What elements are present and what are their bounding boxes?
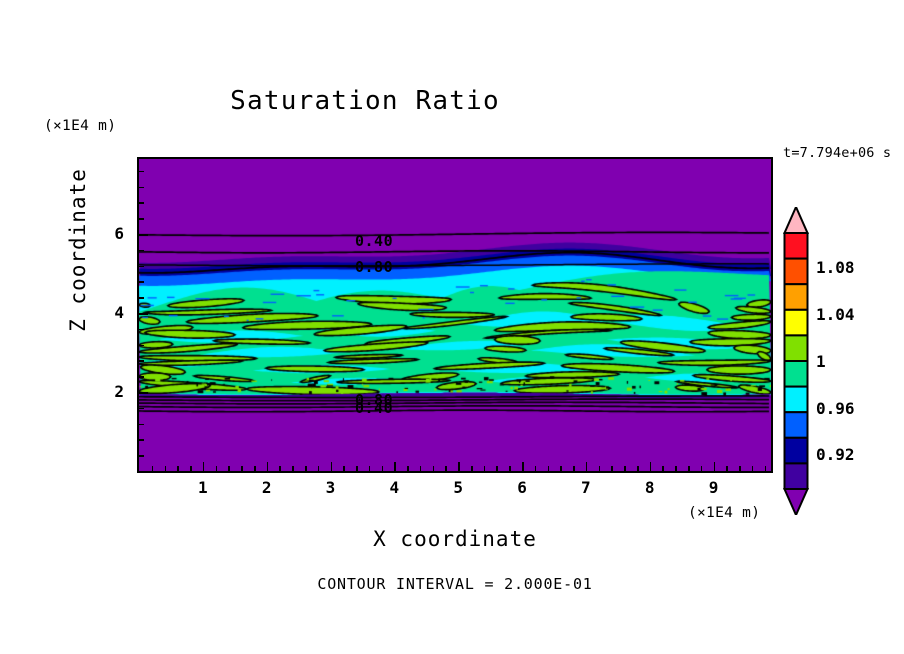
colorbar-segment[interactable] [785, 335, 808, 361]
x-minor-tick [420, 466, 422, 471]
x-minor-tick [433, 466, 435, 471]
x-major-tick [714, 462, 716, 471]
x-minor-tick [241, 466, 243, 471]
x-minor-tick [599, 466, 601, 471]
y-axis-title: Z coordinate [66, 150, 90, 350]
x-minor-tick [216, 466, 218, 471]
y-tick-label: 6 [100, 224, 124, 243]
x-minor-tick [548, 466, 550, 471]
x-minor-tick [560, 466, 562, 471]
y-axis-units-label: (×1E4 m) [44, 118, 116, 134]
y-minor-tick [139, 455, 144, 457]
x-tick-label: 8 [635, 478, 665, 497]
x-minor-tick [573, 466, 575, 471]
x-minor-tick [407, 466, 409, 471]
y-minor-tick [139, 187, 144, 189]
contour-value-label: 0.80 [355, 258, 393, 276]
x-minor-tick [165, 466, 167, 471]
timestamp-label: t=7.794e+06 s [783, 145, 891, 161]
x-minor-tick [496, 466, 498, 471]
x-major-tick [331, 462, 333, 471]
y-minor-tick [139, 329, 144, 331]
y-minor-tick [139, 408, 144, 410]
y-minor-tick [139, 297, 144, 299]
y-minor-tick [139, 250, 144, 252]
x-tick-label: 1 [188, 478, 218, 497]
y-tick-label: 2 [100, 382, 124, 401]
x-minor-tick [305, 466, 307, 471]
contour-interval-label: CONTOUR INTERVAL = 2.000E-01 [137, 575, 773, 593]
y-minor-tick [139, 266, 144, 268]
x-major-tick [267, 462, 269, 471]
x-minor-tick [369, 466, 371, 471]
y-tick-label: 4 [100, 303, 124, 322]
y-minor-tick [139, 345, 144, 347]
contour-plot-area[interactable] [137, 157, 773, 473]
x-major-tick [650, 462, 652, 471]
x-minor-tick [190, 466, 192, 471]
x-minor-tick [726, 466, 728, 471]
colorbar-segment[interactable] [785, 438, 808, 464]
colorbar-over-cap [785, 207, 808, 233]
colorbar[interactable] [783, 207, 809, 515]
contour-field-canvas [139, 159, 771, 471]
x-minor-tick [318, 466, 320, 471]
x-minor-tick [688, 466, 690, 471]
colorbar-segment[interactable] [785, 259, 808, 285]
x-tick-label: 5 [443, 478, 473, 497]
x-major-tick [458, 462, 460, 471]
y-minor-tick [139, 439, 144, 441]
x-minor-tick [484, 466, 486, 471]
y-minor-tick [139, 202, 144, 204]
colorbar-tick-label: 0.96 [816, 399, 855, 418]
x-tick-label: 2 [252, 478, 282, 497]
colorbar-segment[interactable] [785, 284, 808, 310]
contour-value-label: 0.40 [355, 232, 393, 250]
colorbar-tick-label: 1.04 [816, 305, 855, 324]
x-minor-tick [343, 466, 345, 471]
y-minor-tick [139, 281, 144, 283]
colorbar-tick-label: 0.92 [816, 445, 855, 464]
x-minor-tick [292, 466, 294, 471]
page-title: Saturation Ratio [0, 86, 730, 116]
x-minor-tick [445, 466, 447, 471]
contour-value-label: 0.40 [355, 399, 393, 417]
x-minor-tick [611, 466, 613, 471]
colorbar-segment[interactable] [785, 310, 808, 336]
y-major-tick [139, 234, 148, 236]
x-minor-tick [637, 466, 639, 471]
x-minor-tick [471, 466, 473, 471]
x-major-tick [394, 462, 396, 471]
x-minor-tick [624, 466, 626, 471]
colorbar-segment[interactable] [785, 233, 808, 259]
y-major-tick [139, 392, 148, 394]
colorbar-segment[interactable] [785, 412, 808, 438]
x-major-tick [203, 462, 205, 471]
x-minor-tick [356, 466, 358, 471]
y-minor-tick [139, 376, 144, 378]
y-major-tick [139, 313, 148, 315]
x-minor-tick [177, 466, 179, 471]
colorbar-segment[interactable] [785, 463, 808, 489]
x-tick-label: 3 [316, 478, 346, 497]
x-minor-tick [752, 466, 754, 471]
x-minor-tick [509, 466, 511, 471]
x-minor-tick [228, 466, 230, 471]
x-axis-units-label: (×1E4 m) [688, 505, 760, 521]
x-major-tick [586, 462, 588, 471]
colorbar-under-cap [785, 489, 808, 515]
colorbar-segment[interactable] [785, 387, 808, 413]
x-tick-label: 9 [699, 478, 729, 497]
x-tick-label: 7 [571, 478, 601, 497]
y-minor-tick [139, 360, 144, 362]
x-minor-tick [662, 466, 664, 471]
x-axis-title: X coordinate [137, 527, 773, 551]
x-major-tick [522, 462, 524, 471]
colorbar-tick-label: 1.08 [816, 258, 855, 277]
x-minor-tick [279, 466, 281, 471]
colorbar-segment[interactable] [785, 361, 808, 387]
x-minor-tick [739, 466, 741, 471]
x-minor-tick [765, 466, 767, 471]
y-minor-tick [139, 424, 144, 426]
x-minor-tick [382, 466, 384, 471]
colorbar-tick-label: 1 [816, 352, 826, 371]
x-minor-tick [535, 466, 537, 471]
x-minor-tick [701, 466, 703, 471]
x-minor-tick [254, 466, 256, 471]
y-minor-tick [139, 218, 144, 220]
x-minor-tick [675, 466, 677, 471]
x-minor-tick [152, 466, 154, 471]
y-minor-tick [139, 171, 144, 173]
x-tick-label: 6 [507, 478, 537, 497]
x-tick-label: 4 [379, 478, 409, 497]
